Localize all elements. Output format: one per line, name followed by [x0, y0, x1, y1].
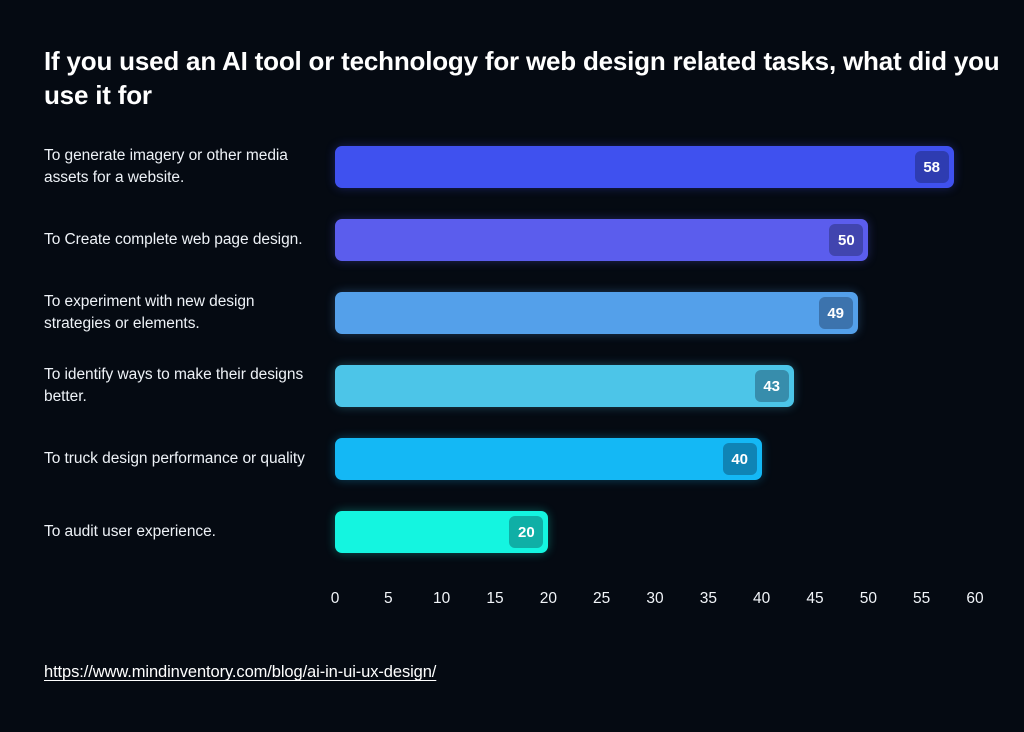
x-axis-tick: 30 [646, 590, 663, 608]
bar-track: 20 [335, 511, 975, 553]
page-title: If you used an AI tool or technology for… [44, 44, 1004, 113]
bar-value-badge: 40 [723, 443, 757, 475]
x-axis-tick: 10 [433, 590, 450, 608]
bar-track: 40 [335, 438, 975, 480]
category-label: To Create complete web page design. [44, 229, 324, 251]
x-axis-tick: 50 [860, 590, 877, 608]
x-axis-tick: 60 [966, 590, 983, 608]
x-axis-tick: 0 [331, 590, 340, 608]
x-axis-tick: 25 [593, 590, 610, 608]
category-label: To generate imagery or other media asset… [44, 145, 324, 189]
bar[interactable]: 49 [335, 292, 858, 334]
category-label: To identify ways to make their designs b… [44, 364, 324, 408]
category-label: To experiment with new design strategies… [44, 291, 324, 335]
source-link[interactable]: https://www.mindinventory.com/blog/ai-in… [44, 663, 436, 682]
bar-value-badge: 20 [509, 516, 543, 548]
x-axis-tick: 55 [913, 590, 930, 608]
x-axis-tick: 20 [540, 590, 557, 608]
bar-value-badge: 43 [755, 370, 789, 402]
bar[interactable]: 43 [335, 365, 794, 407]
x-axis-tick: 15 [486, 590, 503, 608]
bar-track: 43 [335, 365, 975, 407]
chart-row: To generate imagery or other media asset… [0, 146, 1024, 188]
x-axis-tick: 45 [806, 590, 823, 608]
chart-row: To experiment with new design strategies… [0, 292, 1024, 334]
bar-track: 50 [335, 219, 975, 261]
chart-row: To Create complete web page design.50 [0, 219, 1024, 261]
bar[interactable]: 20 [335, 511, 548, 553]
bar-chart: To generate imagery or other media asset… [0, 146, 1024, 576]
x-axis: 051015202530354045505560 [335, 590, 975, 616]
category-label: To audit user experience. [44, 521, 324, 543]
bar[interactable]: 50 [335, 219, 868, 261]
bar-value-badge: 58 [915, 151, 949, 183]
bar-value-badge: 50 [829, 224, 863, 256]
bar-value-badge: 49 [819, 297, 853, 329]
chart-row: To audit user experience.20 [0, 511, 1024, 553]
bar-track: 58 [335, 146, 975, 188]
bar[interactable]: 40 [335, 438, 762, 480]
category-label: To truck design performance or quality [44, 448, 324, 470]
x-axis-tick: 40 [753, 590, 770, 608]
chart-row: To identify ways to make their designs b… [0, 365, 1024, 407]
x-axis-tick: 5 [384, 590, 393, 608]
x-axis-tick: 35 [700, 590, 717, 608]
bar-track: 49 [335, 292, 975, 334]
bar[interactable]: 58 [335, 146, 954, 188]
chart-row: To truck design performance or quality40 [0, 438, 1024, 480]
chart-page: If you used an AI tool or technology for… [0, 0, 1024, 732]
